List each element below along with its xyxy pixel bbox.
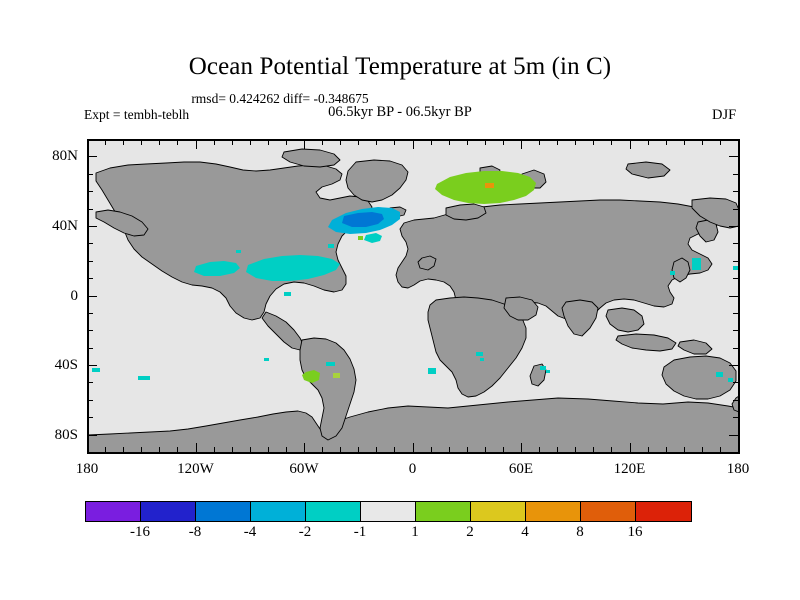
x-tick-top--80 (268, 140, 269, 145)
y-axis-label-40S: 40S (0, 356, 78, 374)
x-tick--60 (304, 443, 305, 452)
x-tick-50 (503, 447, 504, 452)
anomaly-speck-4 (236, 250, 241, 253)
anomaly-indian-1 (540, 366, 546, 370)
season-label: DJF (712, 107, 736, 124)
colorbar-segment-8[interactable] (526, 502, 581, 521)
y-tick--80 (88, 435, 97, 436)
x-tick-20 (449, 447, 450, 452)
x-tick-top--160 (123, 140, 124, 145)
x-axis-label-120E: 120E (595, 460, 665, 478)
x-tick-top-40 (485, 140, 486, 145)
anomaly-pacific-s2 (138, 376, 150, 380)
x-tick-top-90 (575, 140, 576, 145)
y-tick-right--20 (733, 330, 738, 331)
y-tick--10 (88, 313, 93, 314)
x-tick-0 (413, 443, 414, 452)
x-tick--10 (394, 447, 395, 452)
colorbar-tick-8: 8 (555, 523, 605, 541)
y-tick-right-90 (733, 139, 738, 140)
x-tick-10 (431, 447, 432, 452)
x-tick-top--60 (304, 140, 305, 149)
x-tick-top-80 (557, 140, 558, 145)
y-tick--20 (88, 330, 93, 331)
colorbar-tick-1: 1 (390, 523, 440, 541)
x-tick-top-110 (611, 140, 612, 145)
y-tick-right--50 (733, 382, 738, 383)
y-axis-label-0: 0 (0, 287, 78, 305)
y-tick-right--40 (729, 365, 738, 366)
x-tick-top-100 (593, 140, 594, 145)
colorbar-segment-10[interactable] (636, 502, 691, 521)
y-tick--40 (88, 365, 97, 366)
x-axis-label-180: 180 (703, 460, 773, 478)
x-tick-120 (630, 443, 631, 452)
x-axis-label-120W: 120W (161, 460, 231, 478)
x-tick-top--170 (105, 140, 106, 145)
x-tick-40 (485, 447, 486, 452)
x-tick-100 (593, 447, 594, 452)
x-tick-top-20 (449, 140, 450, 145)
y-tick-60 (88, 191, 93, 192)
x-tick-top-10 (431, 140, 432, 145)
x-tick--160 (123, 447, 124, 452)
colorbar-segment-0[interactable] (86, 502, 141, 521)
x-tick-top-140 (666, 140, 667, 145)
y-tick--90 (88, 452, 93, 453)
x-tick-60 (521, 443, 522, 452)
x-tick--110 (214, 447, 215, 452)
x-tick--50 (322, 447, 323, 452)
colorbar-tick--1: -1 (335, 523, 385, 541)
colorbar-segment-4[interactable] (306, 502, 361, 521)
colorbar-segment-7[interactable] (471, 502, 526, 521)
y-tick--30 (88, 348, 93, 349)
y-axis-label-80N: 80N (0, 147, 78, 165)
anomaly-barents-core (485, 183, 494, 188)
y-tick-right-80 (729, 156, 738, 157)
x-tick-140 (666, 447, 667, 452)
x-tick-170 (720, 447, 721, 452)
colorbar[interactable] (85, 501, 692, 522)
y-tick-right--60 (733, 400, 738, 401)
anomaly-pacific-s1 (92, 368, 100, 372)
x-tick-160 (702, 447, 703, 452)
colorbar-tick--8: -8 (170, 523, 220, 541)
x-tick-top-130 (648, 140, 649, 145)
x-tick--90 (250, 447, 251, 452)
x-tick-130 (648, 447, 649, 452)
x-tick-80 (557, 447, 558, 452)
x-tick--120 (196, 443, 197, 452)
x-tick--20 (376, 447, 377, 452)
anomaly-argentine-speck (333, 373, 340, 378)
colorbar-segment-5[interactable] (361, 502, 416, 521)
y-tick-40 (88, 226, 97, 227)
colorbar-tick-16: 16 (610, 523, 660, 541)
y-tick-right-40 (729, 226, 738, 227)
x-axis-label-60W: 60W (269, 460, 339, 478)
colorbar-segment-6[interactable] (416, 502, 471, 521)
y-tick-10 (88, 278, 93, 279)
x-tick-top--120 (196, 140, 197, 149)
anomaly-agulhas-3 (480, 358, 484, 361)
colorbar-segment-9[interactable] (581, 502, 636, 521)
x-tick-150 (684, 447, 685, 452)
anomaly-agulhas-2 (476, 352, 483, 356)
colorbar-segment-2[interactable] (196, 502, 251, 521)
y-tick-0 (88, 296, 97, 297)
x-axis-label-180: 180 (52, 460, 122, 478)
colorbar-tick--4: -4 (225, 523, 275, 541)
period-label: 06.5kyr BP - 06.5kyr BP (0, 104, 800, 121)
x-axis-label-0: 0 (378, 460, 448, 478)
y-tick-right--70 (733, 417, 738, 418)
anomaly-pacific-s3 (264, 358, 269, 361)
colorbar-tick-4: 4 (500, 523, 550, 541)
y-tick-50 (88, 209, 93, 210)
y-tick-right-30 (733, 243, 738, 244)
map-plot-area (87, 139, 740, 454)
x-tick--40 (340, 447, 341, 452)
x-tick-top-160 (702, 140, 703, 145)
y-tick--50 (88, 382, 93, 383)
y-tick-right--30 (733, 348, 738, 349)
anomaly-speck-3 (284, 292, 291, 296)
x-tick-top--50 (322, 140, 323, 145)
x-tick-70 (539, 447, 540, 452)
x-tick-top--70 (286, 140, 287, 145)
x-tick-top--90 (250, 140, 251, 145)
page-title: Ocean Potential Temperature at 5m (in C) (0, 52, 800, 82)
colorbar-tick--16: -16 (115, 523, 165, 541)
y-tick-right-70 (733, 174, 738, 175)
x-tick-top-60 (521, 140, 522, 149)
x-tick-top--100 (232, 140, 233, 145)
x-tick-110 (611, 447, 612, 452)
y-axis-label-40N: 40N (0, 217, 78, 235)
x-axis-label-60E: 60E (486, 460, 556, 478)
anomaly-agulhas-1 (428, 368, 436, 374)
x-tick-top-180 (738, 140, 739, 149)
anomaly-south-atl-1 (326, 362, 335, 366)
x-tick-180 (738, 443, 739, 452)
x-tick--80 (268, 447, 269, 452)
y-tick-right-10 (733, 278, 738, 279)
x-tick--70 (286, 447, 287, 452)
y-tick-right--80 (729, 435, 738, 436)
x-tick-top-30 (467, 140, 468, 145)
y-tick-20 (88, 261, 93, 262)
x-tick-top--130 (177, 140, 178, 145)
y-tick-right-60 (733, 191, 738, 192)
x-tick-top--150 (141, 140, 142, 145)
x-tick-top-150 (684, 140, 685, 145)
x-tick--100 (232, 447, 233, 452)
y-tick-right--10 (733, 313, 738, 314)
x-tick-top--180 (87, 140, 88, 149)
x-tick-top-0 (413, 140, 414, 149)
anomaly-speck-1 (328, 244, 334, 248)
x-tick--170 (105, 447, 106, 452)
x-tick-top-70 (539, 140, 540, 145)
anomaly-speck-2 (358, 236, 363, 240)
x-tick--130 (177, 447, 178, 452)
y-tick-80 (88, 156, 97, 157)
y-tick-30 (88, 243, 93, 244)
y-tick--70 (88, 417, 93, 418)
anomaly-kuroshio-2 (670, 271, 675, 275)
world-map (88, 140, 739, 453)
y-tick-right-0 (729, 296, 738, 297)
y-tick--60 (88, 400, 93, 401)
anomaly-tasman-1 (716, 372, 723, 377)
x-tick-top--40 (340, 140, 341, 145)
y-axis-label-80S: 80S (0, 426, 78, 444)
colorbar-segment-3[interactable] (251, 502, 306, 521)
colorbar-tick--2: -2 (280, 523, 330, 541)
x-tick-30 (467, 447, 468, 452)
y-tick-70 (88, 174, 93, 175)
x-tick-top--20 (376, 140, 377, 145)
x-tick--140 (159, 447, 160, 452)
y-tick-90 (88, 139, 93, 140)
x-tick-top--110 (214, 140, 215, 145)
x-tick--150 (141, 447, 142, 452)
x-tick-top-170 (720, 140, 721, 145)
colorbar-segment-1[interactable] (141, 502, 196, 521)
anomaly-indian-2 (546, 370, 550, 373)
x-tick-top-120 (630, 140, 631, 149)
x-tick--180 (87, 443, 88, 452)
x-tick-top-50 (503, 140, 504, 145)
x-tick--30 (358, 447, 359, 452)
x-tick-top--30 (358, 140, 359, 145)
y-tick-right-50 (733, 209, 738, 210)
y-tick-right--90 (733, 452, 738, 453)
anomaly-kuroshio-1 (692, 258, 701, 270)
colorbar-tick-2: 2 (445, 523, 495, 541)
x-tick-90 (575, 447, 576, 452)
x-tick-top--10 (394, 140, 395, 145)
y-tick-right-20 (733, 261, 738, 262)
x-tick-top--140 (159, 140, 160, 145)
figure-canvas: Ocean Potential Temperature at 5m (in C)… (0, 0, 800, 600)
